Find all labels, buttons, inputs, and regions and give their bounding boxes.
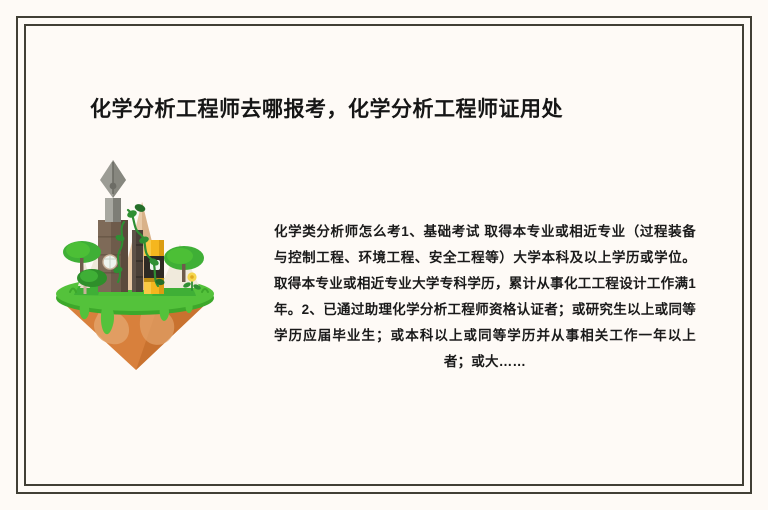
page-title: 化学分析工程师去哪报考，化学分析工程师证用处 [90,92,680,128]
article-preview-card: 化学分析工程师去哪报考，化学分析工程师证用处 [0,0,768,510]
article-body-text: 化学类分析师怎么考1、基础考试 取得本专业或相近专业（过程装备与控制工程、环境工… [274,219,696,375]
floating-island-pen-icon [40,158,230,373]
